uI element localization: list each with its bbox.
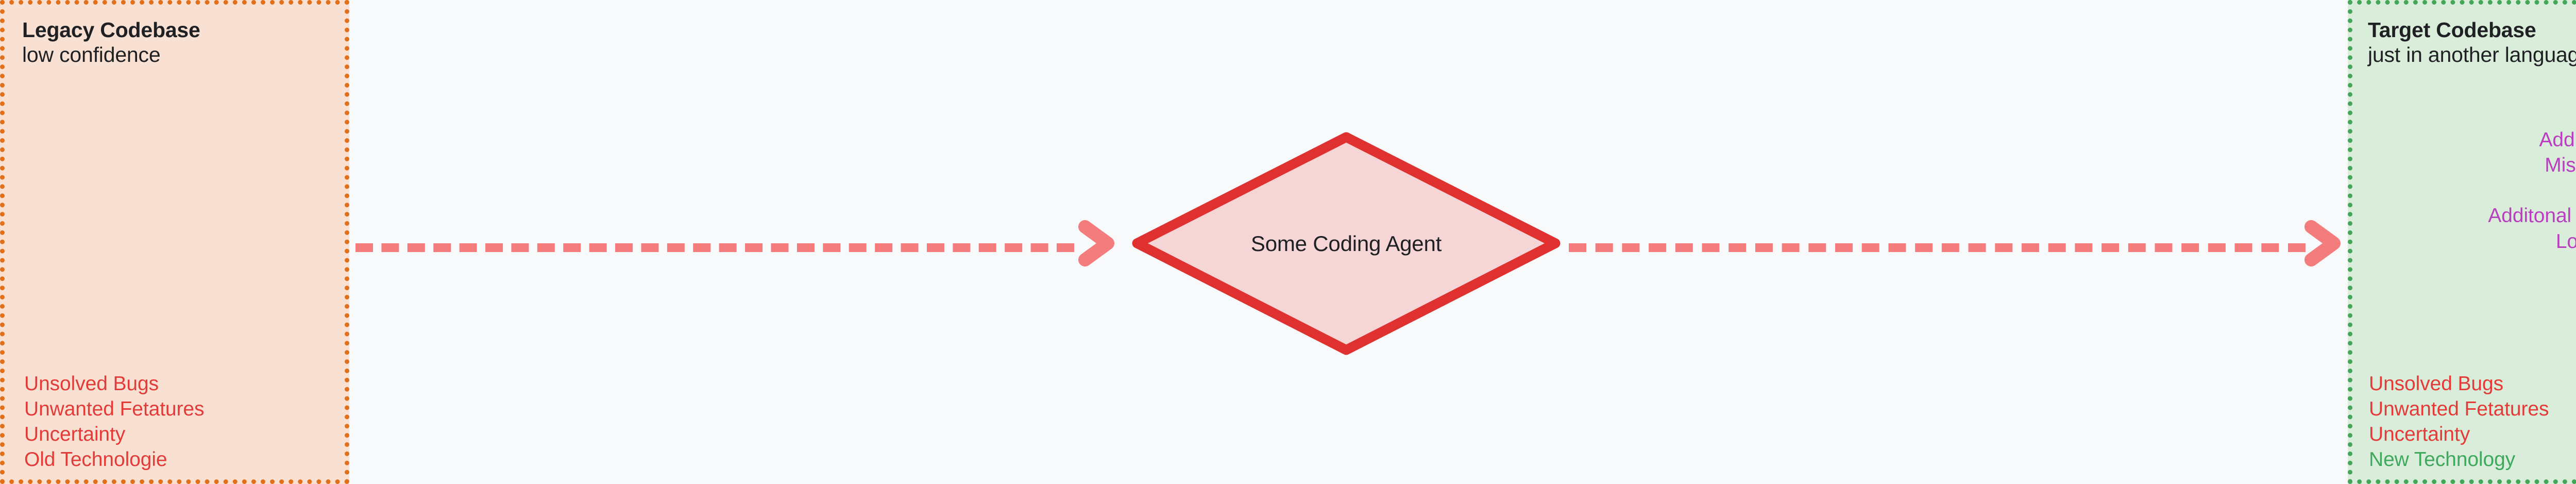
list-item: Unwanted Fetatures	[2369, 396, 2549, 422]
legacy-to-agent-arrowhead-icon	[1078, 220, 1116, 267]
list-item: Additional Bugs	[2488, 127, 2576, 153]
list-item: Unsolved Bugs	[24, 371, 204, 396]
diagram-canvas: Legacy Codebase low confidence Unsolved …	[0, 0, 2576, 484]
target-panel-title: Target Codebase	[2368, 18, 2576, 43]
target-carried-issues-list: Unsolved Bugs Unwanted Fetatures Uncerta…	[2369, 371, 2549, 473]
list-item: Misenterpreted	[2488, 153, 2576, 178]
legacy-codebase-panel: Legacy Codebase low confidence Unsolved …	[0, 0, 349, 484]
legacy-panel-subtitle: low confidence	[22, 43, 334, 68]
agent-to-target-arrowhead-icon	[2304, 220, 2342, 267]
list-item: Lost Features	[2488, 229, 2576, 254]
list-item: Unsolved Bugs	[2369, 371, 2549, 396]
list-item: Uncertainty	[2369, 422, 2549, 447]
list-item: Fetatures	[2488, 178, 2576, 203]
target-added-issues-list: Additional Bugs Misenterpreted Fetatures…	[2488, 127, 2576, 254]
list-item: Uncertainty	[24, 422, 204, 447]
target-panel-subtitle: just in another language	[2368, 43, 2576, 68]
list-item: Unwanted Fetatures	[24, 396, 204, 422]
list-item: Additonal Uncertainty	[2488, 203, 2576, 228]
coding-agent-node[interactable]: Some Coding Agent	[1131, 131, 1562, 356]
list-item: New Technology	[2369, 447, 2549, 472]
legacy-issues-list: Unsolved Bugs Unwanted Fetatures Uncerta…	[24, 371, 204, 473]
agent-to-target-dashed-line	[1569, 243, 2306, 252]
target-codebase-panel: Target Codebase just in another language…	[2348, 0, 2576, 484]
list-item: Old Technologie	[24, 447, 204, 472]
legacy-to-agent-dashed-line	[355, 243, 1074, 252]
legacy-panel-title: Legacy Codebase	[22, 18, 334, 43]
